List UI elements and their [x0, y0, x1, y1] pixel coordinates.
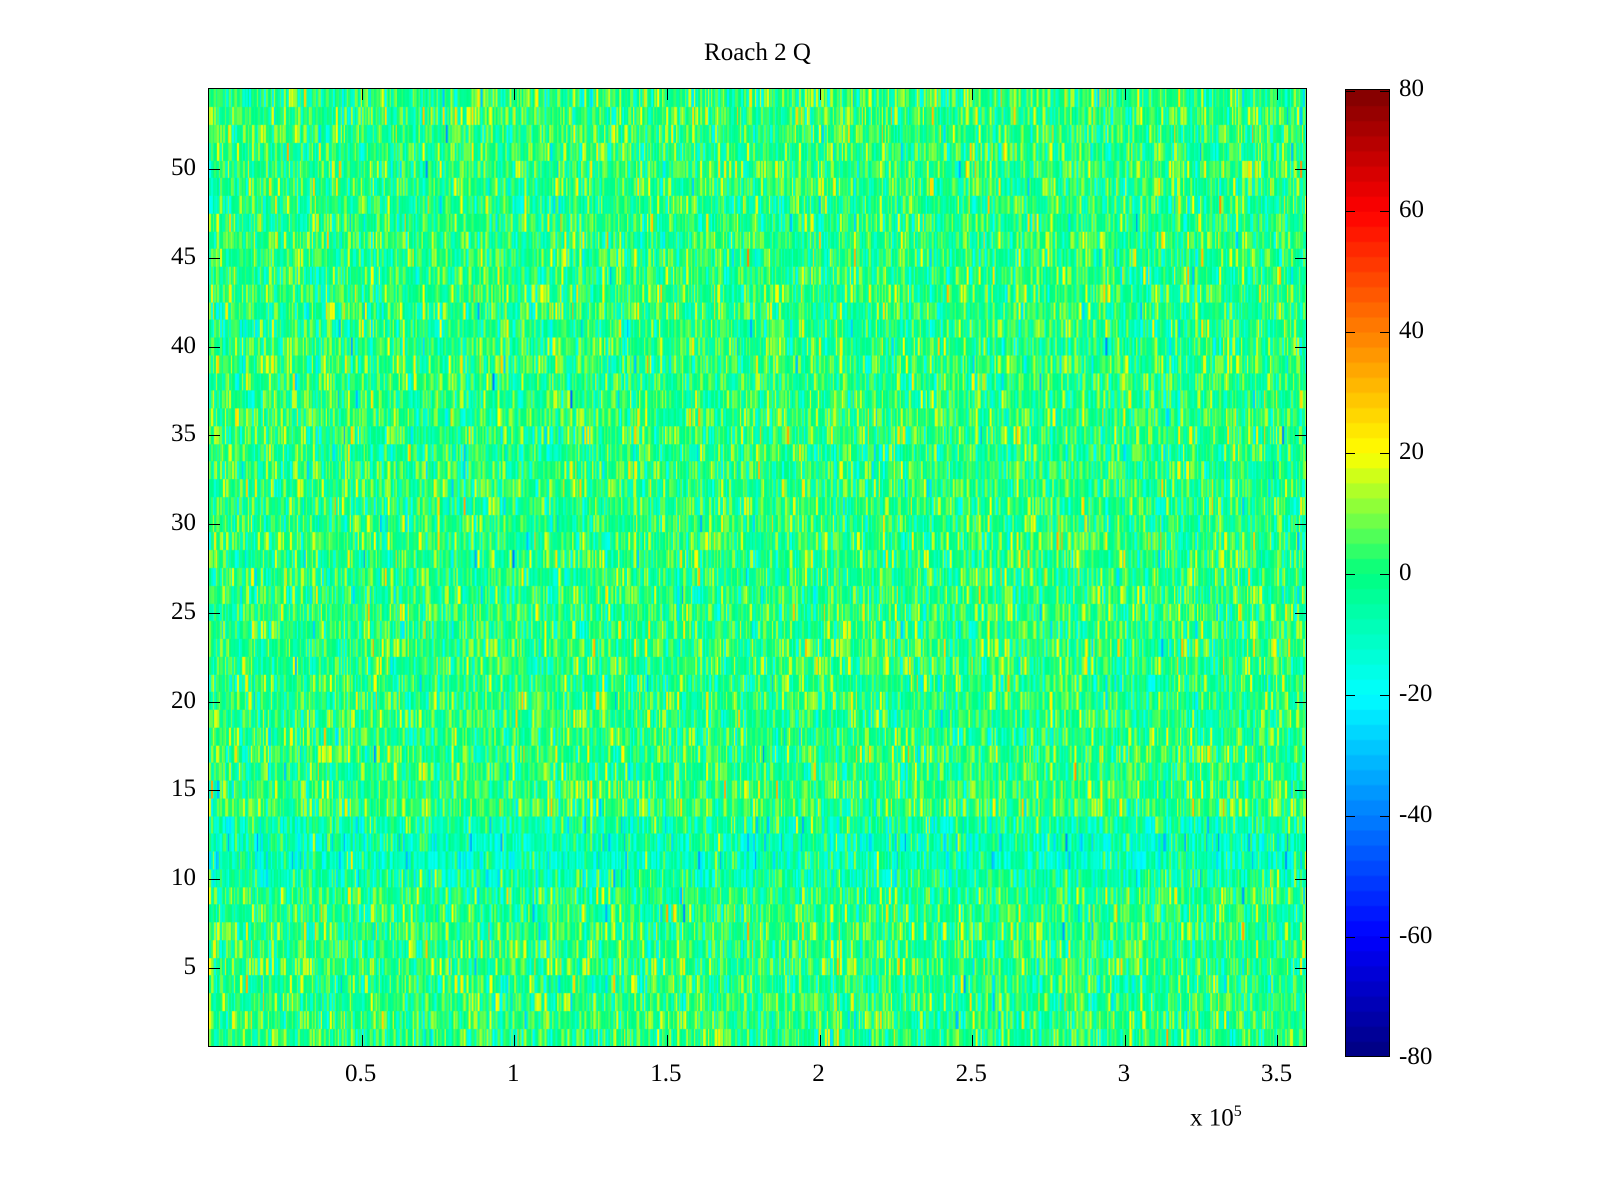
- y-tick-label-5: 5: [126, 954, 196, 979]
- colorbar-tick-20: [1346, 453, 1355, 454]
- heatmap-image: [209, 89, 1306, 1046]
- colorbar-tick-right-60: [1380, 211, 1389, 212]
- x-tick-1.5: [667, 1035, 668, 1046]
- y-tick-right-10: [1295, 879, 1306, 880]
- x-tick-2: [820, 1035, 821, 1046]
- x-tick-3.5: [1277, 1035, 1278, 1046]
- colorbar-tick-label-0: 0: [1399, 560, 1412, 585]
- colorbar-tick-right--80: [1380, 1056, 1389, 1057]
- y-tick-label-25: 25: [126, 599, 196, 624]
- x-exponent-power: 5: [1234, 1103, 1242, 1120]
- y-tick-label-15: 15: [126, 776, 196, 801]
- x-tick-label-0.5: 0.5: [301, 1061, 421, 1086]
- x-tick-top-2: [820, 89, 821, 100]
- x-exponent-base: x 10: [1190, 1104, 1234, 1131]
- colorbar-tick-label-80: 80: [1399, 76, 1424, 101]
- colorbar-tick--20: [1346, 695, 1355, 696]
- y-tick-45: [209, 258, 220, 259]
- y-tick-label-20: 20: [126, 688, 196, 713]
- colorbar-tick-right-20: [1380, 453, 1389, 454]
- x-tick-2.5: [972, 1035, 973, 1046]
- y-tick-label-40: 40: [126, 333, 196, 358]
- y-tick-right-40: [1295, 347, 1306, 348]
- x-tick-top-3.5: [1277, 89, 1278, 100]
- x-tick-3: [1125, 1035, 1126, 1046]
- y-tick-label-45: 45: [126, 244, 196, 269]
- colorbar-tick-80: [1346, 91, 1355, 92]
- y-tick-right-30: [1295, 524, 1306, 525]
- x-tick-label-3: 3: [1064, 1061, 1184, 1086]
- y-tick-right-35: [1295, 435, 1306, 436]
- x-tick-label-2: 2: [759, 1061, 879, 1086]
- x-tick-label-1.5: 1.5: [606, 1061, 726, 1086]
- colorbar-tick-60: [1346, 211, 1355, 212]
- figure-canvas: Roach 2 Q 5101520253035404550 0.511.522.…: [0, 0, 1600, 1200]
- colorbar-tick-label-40: 40: [1399, 318, 1424, 343]
- y-tick-5: [209, 968, 220, 969]
- y-tick-label-50: 50: [126, 155, 196, 180]
- y-tick-10: [209, 879, 220, 880]
- y-tick-35: [209, 435, 220, 436]
- colorbar-tick--60: [1346, 937, 1355, 938]
- x-tick-0.5: [362, 1035, 363, 1046]
- colorbar-tick--80: [1346, 1056, 1355, 1057]
- y-tick-right-50: [1295, 169, 1306, 170]
- colorbar-tick-right-40: [1380, 332, 1389, 333]
- heatmap-axes[interactable]: [208, 88, 1307, 1047]
- colorbar-gradient: [1346, 90, 1389, 1056]
- y-tick-label-10: 10: [126, 865, 196, 890]
- x-tick-top-0.5: [362, 89, 363, 100]
- x-tick-1: [514, 1035, 515, 1046]
- colorbar-tick-right--20: [1380, 695, 1389, 696]
- x-tick-label-3.5: 3.5: [1216, 1061, 1336, 1086]
- x-tick-top-1.5: [667, 89, 668, 100]
- x-tick-top-1: [514, 89, 515, 100]
- colorbar-tick-label-60: 60: [1399, 197, 1424, 222]
- y-tick-30: [209, 524, 220, 525]
- colorbar-tick-40: [1346, 332, 1355, 333]
- y-tick-right-15: [1295, 790, 1306, 791]
- colorbar-tick-label--80: -80: [1399, 1044, 1432, 1069]
- colorbar-tick-label--20: -20: [1399, 681, 1432, 706]
- y-tick-right-20: [1295, 702, 1306, 703]
- page-title: Roach 2 Q: [208, 40, 1307, 65]
- colorbar-tick-right--40: [1380, 816, 1389, 817]
- y-tick-right-25: [1295, 613, 1306, 614]
- y-tick-label-30: 30: [126, 510, 196, 535]
- y-tick-right-5: [1295, 968, 1306, 969]
- y-tick-50: [209, 169, 220, 170]
- y-tick-right-45: [1295, 258, 1306, 259]
- colorbar-tick-right-80: [1380, 91, 1389, 92]
- colorbar-tick-label-20: 20: [1399, 439, 1424, 464]
- y-tick-25: [209, 613, 220, 614]
- y-tick-20: [209, 702, 220, 703]
- y-tick-label-35: 35: [126, 421, 196, 446]
- y-tick-40: [209, 347, 220, 348]
- colorbar-tick-label--60: -60: [1399, 923, 1432, 948]
- colorbar-tick-right--60: [1380, 937, 1389, 938]
- x-tick-top-3: [1125, 89, 1126, 100]
- x-axis-exponent-label: x 105: [1190, 1104, 1242, 1130]
- x-tick-top-2.5: [972, 89, 973, 100]
- colorbar-tick-label--40: -40: [1399, 802, 1432, 827]
- colorbar-tick-0: [1346, 574, 1355, 575]
- colorbar-tick-right-0: [1380, 574, 1389, 575]
- x-tick-label-1: 1: [453, 1061, 573, 1086]
- y-tick-15: [209, 790, 220, 791]
- colorbar-tick--40: [1346, 816, 1355, 817]
- x-tick-label-2.5: 2.5: [911, 1061, 1031, 1086]
- colorbar[interactable]: [1345, 89, 1390, 1057]
